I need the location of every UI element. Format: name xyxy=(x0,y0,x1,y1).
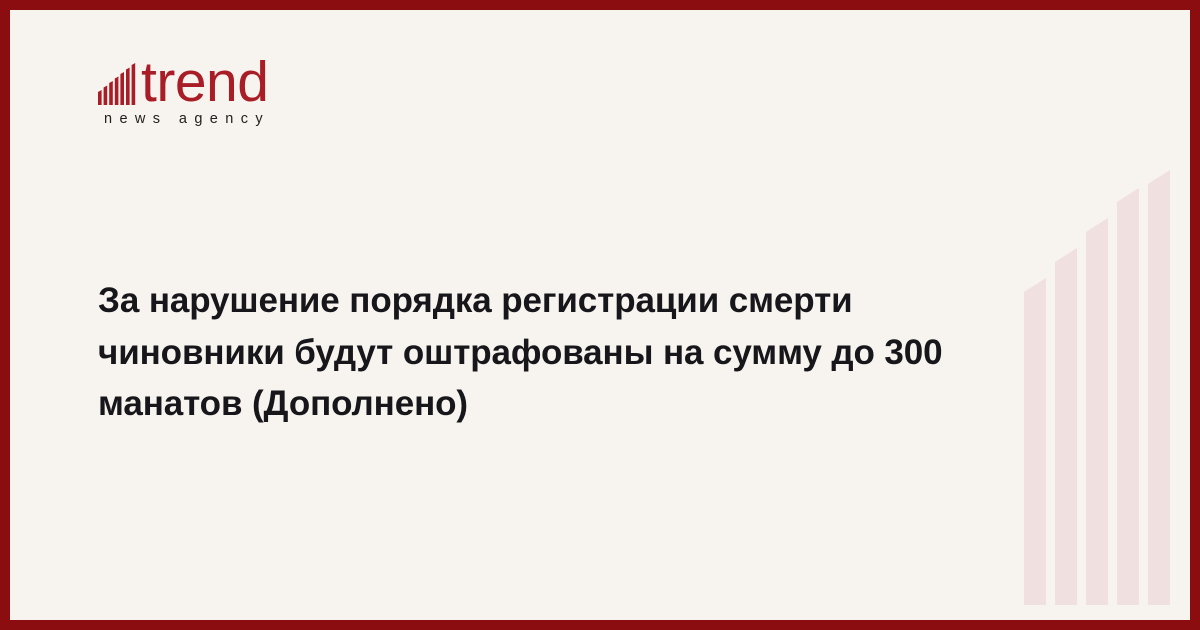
logo-wordmark-row: trend xyxy=(98,48,358,106)
brand-logo[interactable]: trend news agency xyxy=(98,48,358,127)
ascending-bars-mark xyxy=(98,59,140,105)
card-surface: trend news agency За нарушение порядка р… xyxy=(10,10,1190,620)
share-card: trend news agency За нарушение порядка р… xyxy=(0,0,1200,630)
article-headline: За нарушение порядка регистрации смерти … xyxy=(98,275,1048,429)
logo-wordmark-text: trend xyxy=(141,55,268,109)
